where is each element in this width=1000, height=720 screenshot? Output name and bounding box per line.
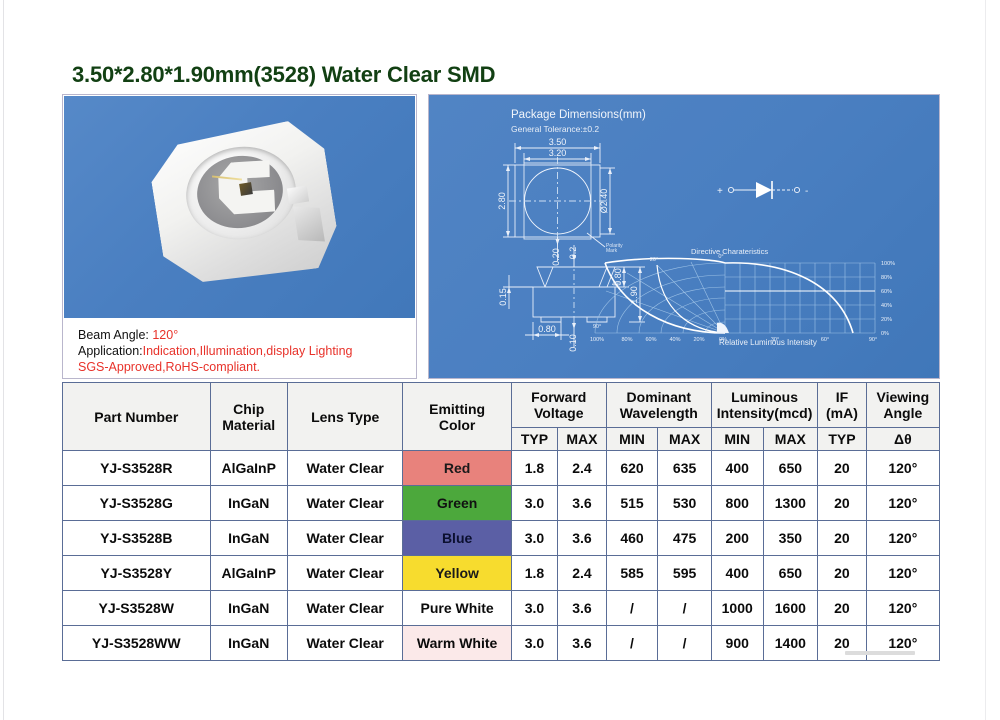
page-title: 3.50*2.80*1.90mm(3528) Water Clear SMD — [72, 62, 495, 88]
cell-part-number: YJ-S3528G — [63, 486, 211, 521]
cell-iv-min: 900 — [711, 626, 763, 661]
cell-iv-max: 650 — [763, 556, 818, 591]
cell-emitting-color: Yellow — [403, 556, 511, 591]
header-if: IF (mA) — [818, 383, 866, 428]
cell-wl-min: / — [606, 591, 658, 626]
svg-text:0%: 0% — [719, 337, 727, 343]
svg-text:0.2: 0.2 — [568, 247, 578, 260]
svg-text:0.80: 0.80 — [538, 324, 556, 334]
led-die — [239, 182, 253, 196]
cell-vf-max: 3.6 — [558, 521, 607, 556]
cell-iv-min: 1000 — [711, 591, 763, 626]
table-header-row-main: Part Number Chip Material Lens Type Emit… — [63, 383, 940, 428]
product-photo-panel: Beam Angle: 120° Application:Indication,… — [62, 94, 417, 379]
header-wl-min: MIN — [606, 428, 658, 451]
product-photo — [64, 96, 415, 318]
svg-text:Ø2.40: Ø2.40 — [599, 189, 609, 214]
cell-wl-max: 530 — [658, 486, 712, 521]
svg-text:0°: 0° — [718, 254, 723, 260]
cell-lens-type: Water Clear — [287, 521, 403, 556]
cell-viewing-angle: 120° — [866, 451, 939, 486]
cell-wl-max: 635 — [658, 451, 712, 486]
package-drawing-svg: 3.50 3.20 2.80 Ø2.40 0.20 — [429, 95, 941, 380]
beam-angle-value: 120° — [152, 328, 178, 342]
svg-text:20°: 20° — [650, 257, 658, 263]
cell-part-number: YJ-S3528B — [63, 521, 211, 556]
page-edge-left — [3, 0, 4, 720]
cell-iv-min: 800 — [711, 486, 763, 521]
cell-part-number: YJ-S3528Y — [63, 556, 211, 591]
specification-table-wrapper: Part Number Chip Material Lens Type Emit… — [62, 382, 940, 661]
cell-vf-typ: 3.0 — [511, 591, 557, 626]
table-body: YJ-S3528RAlGaInPWater ClearRed1.82.46206… — [63, 451, 940, 661]
cell-emitting-color: Warm White — [403, 626, 511, 661]
application-line: Application:Indication,Illumination,disp… — [78, 343, 415, 359]
cell-emitting-color: Pure White — [403, 591, 511, 626]
svg-text:80%: 80% — [621, 337, 632, 343]
cell-vf-typ: 3.0 — [511, 486, 557, 521]
cell-lens-type: Water Clear — [287, 451, 403, 486]
cell-chip-material: InGaN — [210, 626, 287, 661]
header-lens-type: Lens Type — [287, 383, 403, 451]
cell-iv-min: 400 — [711, 556, 763, 591]
header-forward-voltage: Forward Voltage — [511, 383, 606, 428]
cell-lens-type: Water Clear — [287, 591, 403, 626]
cell-wl-max: / — [658, 591, 712, 626]
led-lead-lower — [293, 207, 325, 242]
led-lead-upper — [287, 186, 309, 205]
svg-text:0.15: 0.15 — [498, 288, 508, 306]
svg-text:60%: 60% — [881, 289, 892, 295]
header-dominant-wavelength: Dominant Wavelength — [606, 383, 711, 428]
table-row: YJ-S3528RAlGaInPWater ClearRed1.82.46206… — [63, 451, 940, 486]
header-vf-max: MAX — [558, 428, 607, 451]
cell-if-typ: 20 — [818, 591, 866, 626]
cell-iv-max: 1300 — [763, 486, 818, 521]
cell-if-typ: 20 — [818, 451, 866, 486]
cell-if-typ: 20 — [818, 521, 866, 556]
svg-text:0.10: 0.10 — [568, 334, 578, 352]
cell-vf-typ: 1.8 — [511, 451, 557, 486]
svg-text:40%: 40% — [669, 337, 680, 343]
cell-viewing-angle: 120° — [866, 591, 939, 626]
header-part-number: Part Number — [63, 383, 211, 451]
cell-iv-max: 650 — [763, 451, 818, 486]
beam-angle-line: Beam Angle: 120° — [78, 327, 415, 343]
specification-table: Part Number Chip Material Lens Type Emit… — [62, 382, 940, 661]
header-chip-material: Chip Material — [210, 383, 287, 451]
cell-chip-material: InGaN — [210, 591, 287, 626]
header-iv-max: MAX — [763, 428, 818, 451]
cell-wl-min: 515 — [606, 486, 658, 521]
cell-part-number: YJ-S3528R — [63, 451, 211, 486]
beam-angle-label: Beam Angle: — [78, 328, 152, 342]
cell-vf-max: 3.6 — [558, 486, 607, 521]
svg-text:40°: 40° — [612, 282, 620, 288]
cell-wl-min: 620 — [606, 451, 658, 486]
cell-part-number: YJ-S3528W — [63, 591, 211, 626]
svg-text:100%: 100% — [590, 337, 604, 343]
table-row: YJ-S3528GInGaNWater ClearGreen3.03.65155… — [63, 486, 940, 521]
cell-wl-min: / — [606, 626, 658, 661]
scan-artifact-bar — [845, 651, 915, 655]
product-description: Beam Angle: 120° Application:Indication,… — [64, 318, 415, 378]
cell-part-number: YJ-S3528WW — [63, 626, 211, 661]
svg-text:2.80: 2.80 — [497, 192, 507, 210]
cell-wl-min: 585 — [606, 556, 658, 591]
table-row: YJ-S3528YAlGaInPWater ClearYellow1.82.45… — [63, 556, 940, 591]
cell-viewing-angle: 120° — [866, 626, 939, 661]
header-vf-typ: TYP — [511, 428, 557, 451]
cell-vf-typ: 3.0 — [511, 521, 557, 556]
cell-vf-max: 2.4 — [558, 451, 607, 486]
svg-text:3.50: 3.50 — [549, 137, 567, 147]
header-emitting-color: Emitting Color — [403, 383, 511, 451]
application-value: Indication,Illumination,display Lighting — [143, 344, 353, 358]
cell-iv-min: 200 — [711, 521, 763, 556]
cell-emitting-color: Red — [403, 451, 511, 486]
svg-text:20%: 20% — [693, 337, 704, 343]
svg-text:Mark: Mark — [606, 248, 618, 254]
cell-vf-typ: 1.8 — [511, 556, 557, 591]
cell-if-typ: 20 — [818, 626, 866, 661]
header-wl-max: MAX — [658, 428, 712, 451]
cell-iv-max: 1400 — [763, 626, 818, 661]
cell-chip-material: InGaN — [210, 486, 287, 521]
cell-emitting-color: Green — [403, 486, 511, 521]
cell-lens-type: Water Clear — [287, 486, 403, 521]
cell-viewing-angle: 120° — [866, 486, 939, 521]
svg-text:+: + — [717, 186, 723, 197]
svg-text:90°: 90° — [869, 337, 877, 343]
svg-text:60°: 60° — [821, 337, 829, 343]
cell-vf-max: 3.6 — [558, 591, 607, 626]
cell-wl-max: / — [658, 626, 712, 661]
cell-chip-material: AlGaInP — [210, 556, 287, 591]
application-label: Application: — [78, 344, 143, 358]
smd-led-package-image — [156, 129, 332, 279]
header-viewing-angle: Viewing Angle — [866, 383, 939, 428]
cell-iv-max: 1600 — [763, 591, 818, 626]
svg-text:0%: 0% — [881, 331, 889, 337]
cell-emitting-color: Blue — [403, 521, 511, 556]
cell-lens-type: Water Clear — [287, 626, 403, 661]
table-row: YJ-S3528BInGaNWater ClearBlue3.03.646047… — [63, 521, 940, 556]
cell-if-typ: 20 — [818, 556, 866, 591]
svg-text:3.20: 3.20 — [549, 148, 567, 158]
svg-text:90°: 90° — [593, 324, 601, 330]
header-luminous-intensity: Luminous Intensity(mcd) — [711, 383, 817, 428]
page-edge-right — [985, 0, 986, 720]
svg-text:-: - — [805, 186, 808, 197]
cell-if-typ: 20 — [818, 486, 866, 521]
cell-chip-material: AlGaInP — [210, 451, 287, 486]
table-row: YJ-S3528WWInGaNWater ClearWarm White3.03… — [63, 626, 940, 661]
package-drawing-panel: Package Dimensions(mm) General Tolerance… — [428, 94, 940, 379]
cell-lens-type: Water Clear — [287, 556, 403, 591]
cell-chip-material: InGaN — [210, 521, 287, 556]
cell-iv-max: 350 — [763, 521, 818, 556]
compliance-line: SGS-Approved,RoHS-compliant. — [78, 359, 415, 375]
cell-vf-max: 2.4 — [558, 556, 607, 591]
svg-text:40%: 40% — [881, 303, 892, 309]
cell-iv-min: 400 — [711, 451, 763, 486]
svg-text:20%: 20% — [881, 317, 892, 323]
cell-vf-max: 3.6 — [558, 626, 607, 661]
header-if-typ: TYP — [818, 428, 866, 451]
svg-text:60%: 60% — [645, 337, 656, 343]
header-iv-min: MIN — [711, 428, 763, 451]
cell-vf-typ: 3.0 — [511, 626, 557, 661]
svg-text:30°: 30° — [771, 337, 779, 343]
cell-wl-min: 460 — [606, 521, 658, 556]
svg-text:0.20: 0.20 — [551, 248, 561, 266]
table-row: YJ-S3528WInGaNWater ClearPure White3.03.… — [63, 591, 940, 626]
diode-circuit-symbol: + - — [717, 181, 808, 199]
cell-wl-max: 595 — [658, 556, 712, 591]
cell-wl-max: 475 — [658, 521, 712, 556]
svg-text:80%: 80% — [881, 275, 892, 281]
cell-viewing-angle: 120° — [866, 521, 939, 556]
cell-viewing-angle: 120° — [866, 556, 939, 591]
header-viewing-angle-symbol: Δθ — [866, 428, 939, 451]
svg-text:100%: 100% — [881, 261, 895, 267]
